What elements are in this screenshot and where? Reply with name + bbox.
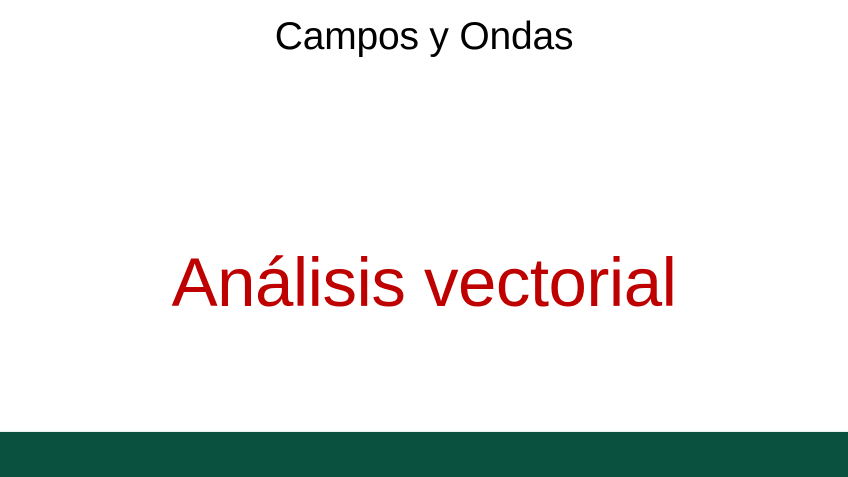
presentation-slide: Campos y Ondas Análisis vectorial <box>0 0 848 477</box>
slide-heading-container: Análisis vectorial <box>0 236 848 328</box>
slide-upper-blank-area <box>0 74 848 236</box>
footer-accent-bar-top-edge <box>0 431 848 432</box>
slide-lower-blank-area <box>0 328 848 431</box>
slide-heading: Análisis vectorial <box>172 248 677 317</box>
footer-accent-bar <box>0 431 848 477</box>
slide-title: Campos y Ondas <box>0 0 848 74</box>
